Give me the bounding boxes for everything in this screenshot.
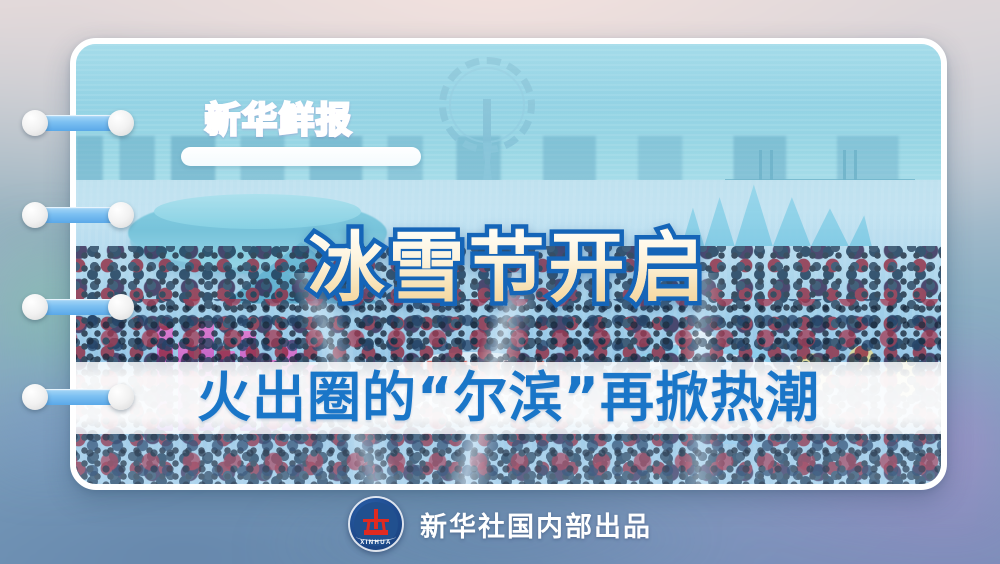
eyebrow-label: 新华鲜报 xyxy=(205,104,353,139)
spiral-binder-ring-2 xyxy=(22,202,134,228)
spiral-binder-ring-1 xyxy=(22,110,134,136)
subheadline: 火出圈的“尔滨”再掀热潮 xyxy=(76,366,941,430)
footer: XINHUA 新华社国内部出品 xyxy=(0,504,1000,544)
spiral-binder-ring-3 xyxy=(22,294,134,320)
eyebrow-badge: 新华鲜报 xyxy=(181,104,441,166)
xinhua-logo-wordmark: XINHUA xyxy=(348,540,404,546)
poster-card: 新华鲜报 冰雪节开启 冰雪节开启 火出圈的“尔滨”再掀热潮 xyxy=(70,38,947,490)
footer-credit: 新华社国内部出品 xyxy=(420,505,652,544)
headline-outline: 冰雪节开启 xyxy=(76,230,941,306)
xinhua-logo-icon: XINHUA xyxy=(348,496,404,552)
eyebrow-pill-bar xyxy=(181,147,421,166)
spiral-binder-ring-4 xyxy=(22,384,134,410)
poster-canvas: 新华鲜报 冰雪节开启 冰雪节开启 火出圈的“尔滨”再掀热潮 xyxy=(0,0,1000,564)
